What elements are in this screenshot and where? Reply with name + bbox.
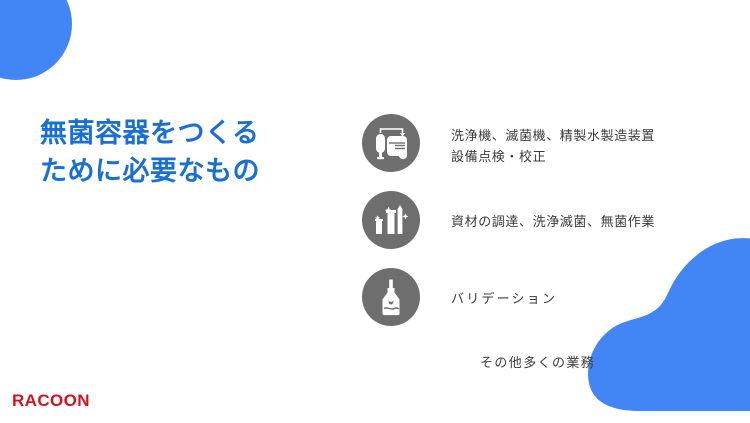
- list-item-label: バリデーション: [451, 268, 702, 309]
- list-item: 洗浄機、滅菌機、精製水製造装置 設備点検・校正: [362, 114, 702, 172]
- slide-canvas: 無菌容器をつくる ために必要なもの: [0, 0, 750, 423]
- list-item: バリデーション: [362, 268, 702, 326]
- list-item-label: 洗浄機、滅菌機、精製水製造装置 設備点検・校正: [451, 114, 702, 167]
- list-item-label: 資材の調達、洗浄滅菌、無菌作業: [451, 191, 702, 232]
- dropper-bottle-icon: [362, 268, 420, 326]
- decorative-circle-top-left: [0, 0, 72, 80]
- racoon-logo: RACOON: [12, 391, 90, 411]
- list-item: 資材の調達、洗浄滅菌、無菌作業: [362, 191, 702, 249]
- page-title: 無菌容器をつくる ために必要なもの: [40, 114, 260, 191]
- requirements-list: 洗浄機、滅菌機、精製水製造装置 設備点検・校正 資材の調達、洗浄滅菌、無菌作業: [362, 114, 702, 345]
- sterilizer-equipment-icon: [362, 114, 420, 172]
- footnote-text: その他多くの業務: [480, 352, 595, 371]
- clean-vials-icon: [362, 191, 420, 249]
